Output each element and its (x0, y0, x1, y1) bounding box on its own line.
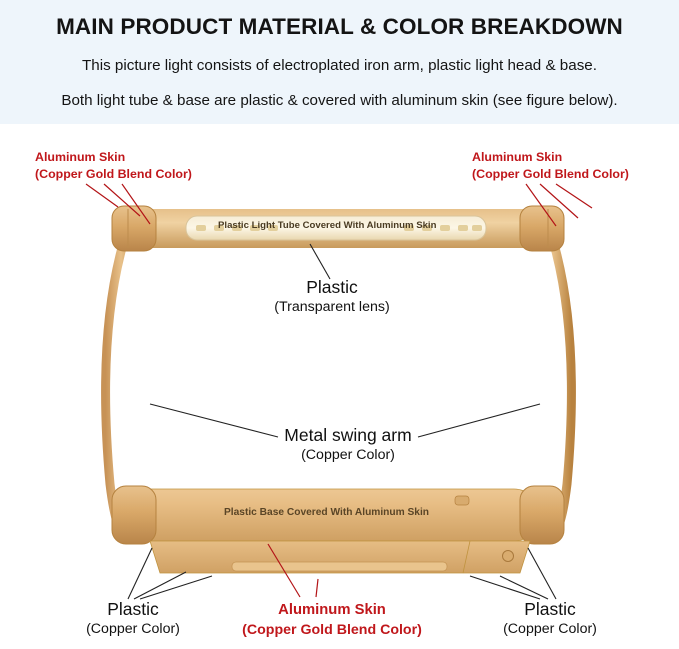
annotation-bottom-right-line2: (Copper Color) (475, 620, 625, 638)
tube-cap-right (520, 206, 564, 251)
header-subtitle-1: This picture light consists of electropl… (0, 57, 679, 74)
infographic-page: MAIN PRODUCT MATERIAL & COLOR BREAKDOWN … (0, 0, 679, 649)
tube-cap-left (112, 206, 156, 251)
annotation-bottom-left: Plastic (Copper Color) (58, 599, 208, 638)
page-title: MAIN PRODUCT MATERIAL & COLOR BREAKDOWN (0, 14, 679, 40)
annotation-bottom-center-line2: (Copper Gold Blend Color) (232, 621, 432, 639)
annotation-top-right-line1: Aluminum Skin (472, 150, 562, 165)
header-band: MAIN PRODUCT MATERIAL & COLOR BREAKDOWN … (0, 0, 679, 124)
base-cap-right (520, 486, 564, 544)
annotation-plastic-lens-line2: (Transparent lens) (247, 298, 417, 316)
annotation-swing-arm-line2: (Copper Color) (268, 446, 428, 464)
base-inline-label: Plastic Base Covered With Aluminum Skin (224, 507, 429, 518)
annotation-swing-arm: Metal swing arm (Copper Color) (268, 425, 428, 464)
annotation-bottom-center-line1: Aluminum Skin (232, 600, 432, 621)
base-foot-strip (232, 562, 447, 571)
header-subtitle-2: Both light tube & base are plastic & cov… (0, 92, 679, 109)
annotation-bottom-left-line2: (Copper Color) (58, 620, 208, 638)
annotation-top-left-line2: (Copper Gold Blend Color) (35, 167, 192, 182)
base-button-icon (455, 496, 469, 505)
tube-inline-label: Plastic Light Tube Covered With Aluminum… (218, 220, 436, 231)
annotation-top-right-line2: (Copper Gold Blend Color) (472, 167, 629, 182)
base-cap-left (112, 486, 156, 544)
annotation-bottom-center: Aluminum Skin (Copper Gold Blend Color) (232, 600, 432, 639)
annotation-swing-arm-line1: Metal swing arm (268, 425, 428, 446)
product-diagram: Plastic Light Tube Covered With Aluminum… (0, 124, 679, 649)
annotation-bottom-right: Plastic (Copper Color) (475, 599, 625, 638)
annotation-plastic-lens: Plastic (Transparent lens) (247, 277, 417, 316)
power-port-icon (503, 551, 514, 562)
annotation-bottom-left-line1: Plastic (58, 599, 208, 620)
annotation-plastic-lens-line1: Plastic (247, 277, 417, 298)
leader-lens (310, 244, 330, 279)
annotation-top-left-line1: Aluminum Skin (35, 150, 125, 165)
annotation-bottom-right-line1: Plastic (475, 599, 625, 620)
product-illustration (0, 124, 679, 649)
